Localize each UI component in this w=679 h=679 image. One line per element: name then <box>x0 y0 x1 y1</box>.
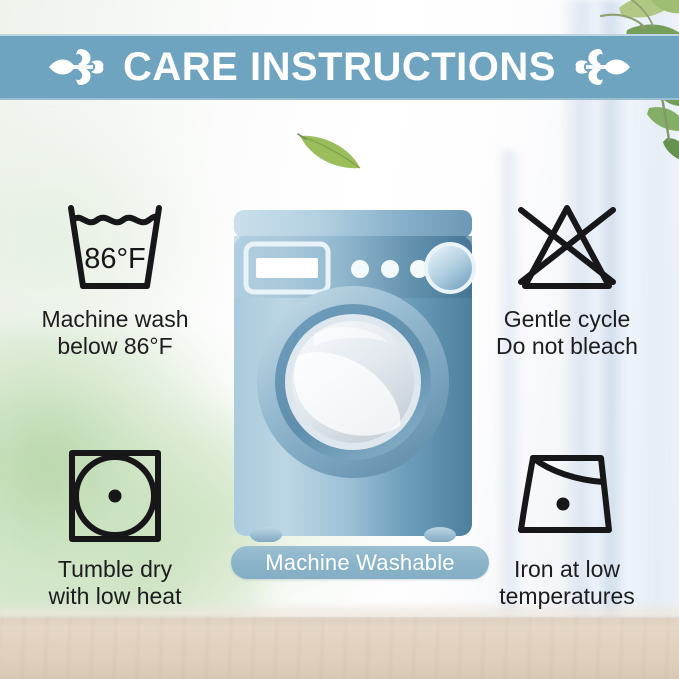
control-knob <box>424 242 476 294</box>
care-item-gentle-cycle-no-bleach: Gentle cycle Do not bleach <box>462 196 672 360</box>
care-item-tumble-dry: Tumble dry with low heat <box>10 446 220 610</box>
wash-tub-icon: 86°F <box>55 196 175 300</box>
care-item-label-iron: Iron at low temperatures <box>462 556 672 610</box>
floating-leaf-icon <box>296 126 366 174</box>
iron-one-dot-icon <box>507 446 627 550</box>
care-item-label-tumble-dry: Tumble dry with low heat <box>10 556 220 610</box>
tumble-dry-square-circle-one-dot-icon <box>55 446 175 550</box>
badge-label: Machine Washable <box>265 552 454 574</box>
wash-temperature-value: 86°F <box>84 243 146 275</box>
machine-washable-badge: Machine Washable <box>231 546 489 579</box>
care-item-label-machine-wash: Machine wash below 86°F <box>10 306 220 360</box>
fleur-de-lis-ornament-left-icon <box>47 45 105 89</box>
header-banner: CARE INSTRUCTIONS <box>0 34 679 100</box>
washing-machine-illustration <box>224 206 482 542</box>
care-item-iron-low: Iron at low temperatures <box>462 446 672 610</box>
care-item-label-gentle-cycle: Gentle cycle Do not bleach <box>462 306 672 360</box>
foliage-leaves-icon <box>557 0 679 210</box>
care-item-machine-wash: 86°F Machine wash below 86°F <box>10 196 220 360</box>
washer-door-window <box>257 286 449 478</box>
triangle-crossed-out-icon <box>507 196 627 300</box>
fleur-de-lis-ornament-right-icon <box>574 45 632 89</box>
page-title: CARE INSTRUCTIONS <box>123 47 556 87</box>
care-instructions-infographic: CARE INSTRUCTIONS 86°F <box>0 0 679 679</box>
background-wood-grain <box>0 617 679 679</box>
